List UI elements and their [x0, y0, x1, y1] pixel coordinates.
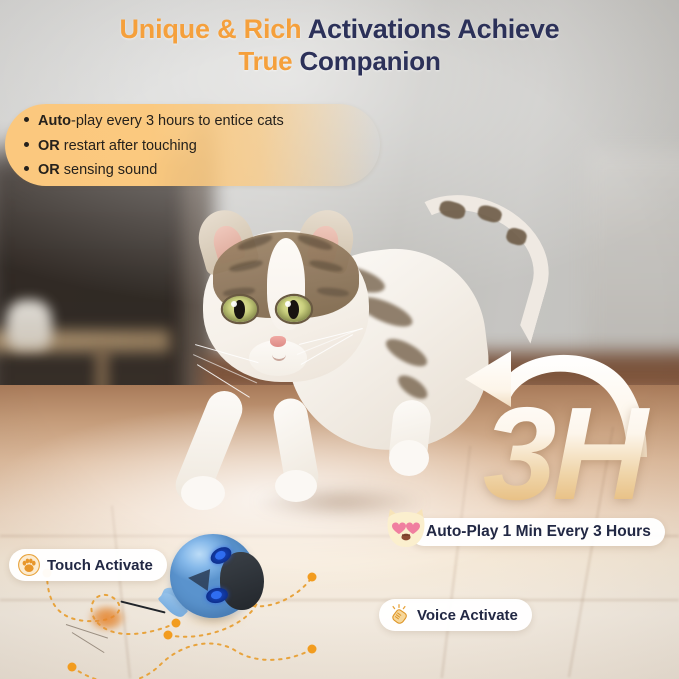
headline-line-1-highlight: Unique & Rich: [119, 14, 301, 44]
bullet-dot-icon: [24, 166, 29, 171]
badge-voice-label: Voice Activate: [417, 607, 518, 624]
cat-eye-glint: [285, 301, 291, 307]
badge-auto-label: Auto-Play 1 Min Every 3 Hours: [426, 523, 651, 541]
headline-line-1-rest: Activations Achieve: [308, 14, 560, 44]
cat-mouth: [272, 348, 286, 361]
ball-shell: [170, 534, 256, 618]
bullet-bold-1: OR: [38, 138, 60, 154]
ball-triangle-marking: [187, 567, 210, 591]
headline: Unique & Rich Activations Achieve True C…: [0, 14, 679, 76]
list-item: OR sensing sound: [24, 158, 374, 183]
bullet-bold-2: OR: [38, 162, 60, 178]
feather-teaser: [82, 600, 132, 636]
cat-nose: [270, 336, 286, 347]
list-item: Auto-play every 3 hours to entice cats: [24, 109, 374, 134]
paw-print-icon: [18, 554, 40, 576]
badge-touch-label: Touch Activate: [47, 557, 153, 574]
bullet-bold-0: Auto: [38, 113, 71, 129]
badge-touch-activate[interactable]: Touch Activate: [9, 549, 167, 581]
headline-line-2-highlight: True: [238, 46, 292, 76]
cat-eye-left: [223, 296, 257, 322]
cat-paw: [389, 440, 429, 476]
list-item: OR restart after touching: [24, 134, 374, 159]
feature-bullet-list: Auto-play every 3 hours to entice cats O…: [24, 109, 374, 183]
cat-face-heart-eyes-icon: [378, 505, 434, 561]
path-endpoint-dot: [308, 573, 317, 582]
badge-auto-play[interactable]: Auto-Play 1 Min Every 3 Hours: [410, 518, 665, 546]
path-endpoint-dot: [308, 645, 317, 654]
headline-line-1: Unique & Rich Activations Achieve: [0, 14, 679, 45]
clapping-hands-icon: [388, 604, 410, 626]
cat-eye-right: [277, 296, 311, 322]
path-endpoint-dot: [68, 663, 77, 672]
cat-eye-glint: [231, 301, 237, 307]
product-cat-toy-ball: [158, 528, 276, 638]
headline-line-2: True Companion: [0, 47, 679, 77]
badge-voice-activate[interactable]: Voice Activate: [379, 599, 532, 631]
bullet-rest-1: restart after touching: [60, 138, 197, 154]
bullet-rest-2: sensing sound: [60, 162, 158, 178]
bullet-dot-icon: [24, 117, 29, 122]
path-ball-to-voice: [72, 643, 312, 679]
bullet-rest-0: -play every 3 hours to entice cats: [71, 113, 284, 129]
headline-line-2-rest: Companion: [299, 46, 440, 76]
bullet-dot-icon: [24, 142, 29, 147]
promo-image-canvas: Unique & Rich Activations Achieve True C…: [0, 0, 679, 679]
